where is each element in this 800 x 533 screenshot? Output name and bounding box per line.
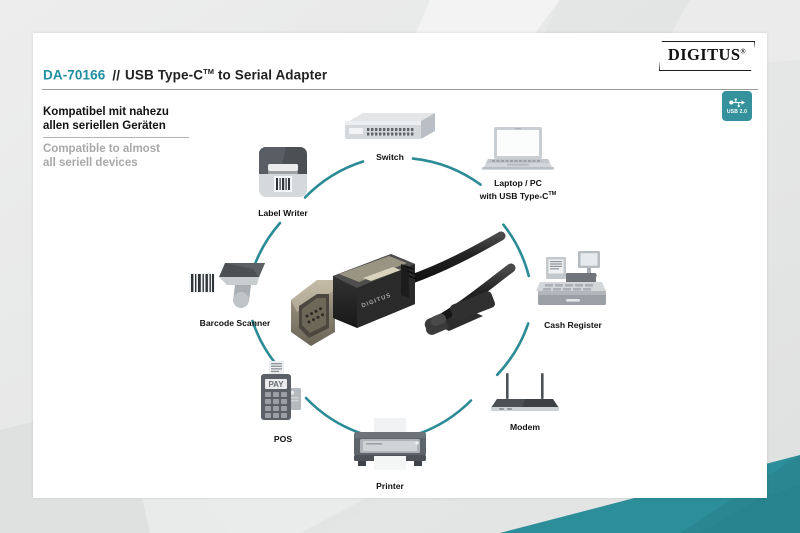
serial-adapter-cable-icon: DIGITUS	[283, 228, 523, 358]
node-label-writer[interactable]: Label Writer	[229, 145, 337, 219]
cash-register-icon	[518, 251, 628, 318]
node-laptop-label-line-1: Laptop / PC	[452, 178, 584, 189]
node-pos-label: POS	[229, 434, 337, 445]
modem-router-icon	[471, 373, 579, 420]
laptop-icon	[452, 125, 584, 176]
node-cash-register[interactable]: Cash Register	[518, 251, 628, 331]
node-printer-label: Printer	[336, 481, 444, 492]
node-modem[interactable]: Modem	[471, 373, 579, 433]
network-switch-icon	[336, 109, 444, 150]
node-laptop-label-line-2: with USB Type-CTM	[452, 189, 584, 201]
node-switch[interactable]: Switch	[336, 109, 444, 163]
pos-display-text: PAY	[268, 380, 284, 389]
node-pos[interactable]: PAY POS	[229, 361, 337, 445]
node-barcode-scanner-label: Barcode Scanner	[173, 318, 297, 329]
product-sheet: DA-70166//USB Type-CTM to Serial Adapter…	[33, 33, 767, 498]
connection-diagram: Switch	[33, 33, 767, 498]
node-printer[interactable]: Printer	[336, 418, 444, 492]
node-laptop-label: Laptop / PC with USB Type-CTM	[452, 178, 584, 201]
node-switch-label: Switch	[336, 152, 444, 163]
node-cash-register-label: Cash Register	[518, 320, 628, 331]
node-barcode-scanner[interactable]: Barcode Scanner	[173, 255, 297, 329]
trademark-symbol: TM	[548, 191, 556, 197]
center-product-image: DIGITUS	[283, 228, 523, 358]
node-laptop[interactable]: Laptop / PC with USB Type-CTM	[452, 125, 584, 201]
node-label-writer-label: Label Writer	[229, 208, 337, 219]
node-modem-label: Modem	[471, 422, 579, 433]
label-writer-icon	[229, 145, 337, 206]
printer-icon	[336, 418, 444, 479]
pos-terminal-icon: PAY	[229, 361, 337, 432]
barcode-scanner-icon	[173, 255, 297, 316]
